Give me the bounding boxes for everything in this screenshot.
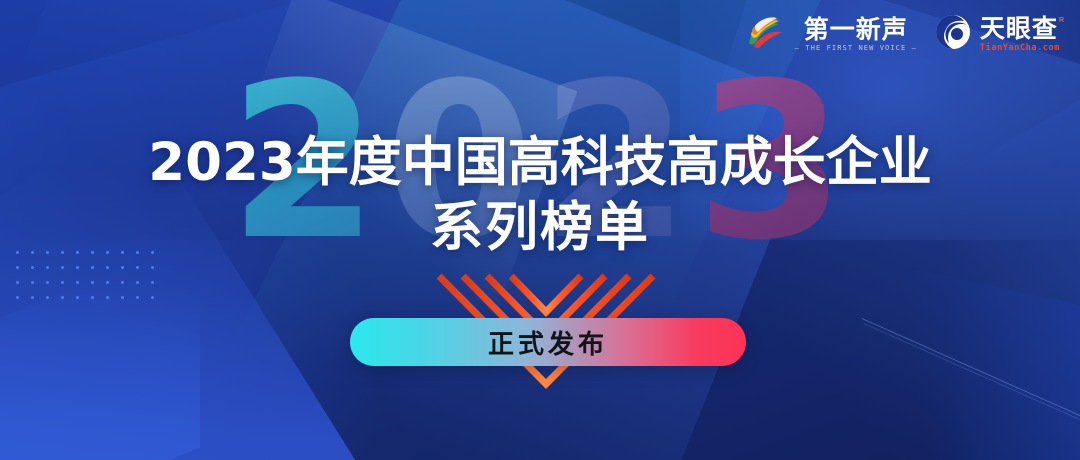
page-title: 2023年度中国高科技高成长企业 系列榜单 [0, 134, 1080, 258]
logo-tagline-en: — THE FIRST NEW VOICE — [795, 45, 917, 52]
registered-trademark-icon: R [1059, 17, 1064, 24]
logo-tianyancha[interactable]: 天眼查 R TianYanCha.com [933, 12, 1064, 57]
release-cta-button[interactable]: 正式发布 [350, 318, 746, 366]
first-new-voice-wordmark: 第一新声 — THE FIRST NEW VOICE — [795, 17, 917, 52]
logo-name-cn: 第一新声 [804, 17, 908, 42]
promo-banner: 2023 [0, 0, 1080, 460]
title-line-2: 系列榜单 [0, 198, 1080, 257]
logo-name-cn: 天眼查 [980, 16, 1058, 41]
logo-bar: 第一新声 — THE FIRST NEW VOICE — 天眼查 R TianY… [746, 12, 1064, 57]
release-cta-label: 正式发布 [488, 324, 608, 361]
title-line-1: 2023年度中国高科技高成长企业 [0, 134, 1080, 192]
aperture-eye-icon [933, 12, 973, 57]
logo-domain-text: TianYanCha.com [980, 44, 1060, 53]
tianyancha-wordmark: 天眼查 R TianYanCha.com [980, 16, 1064, 53]
logo-first-new-voice[interactable]: 第一新声 — THE FIRST NEW VOICE — [746, 12, 917, 57]
ribbon-globe-icon [746, 12, 788, 57]
